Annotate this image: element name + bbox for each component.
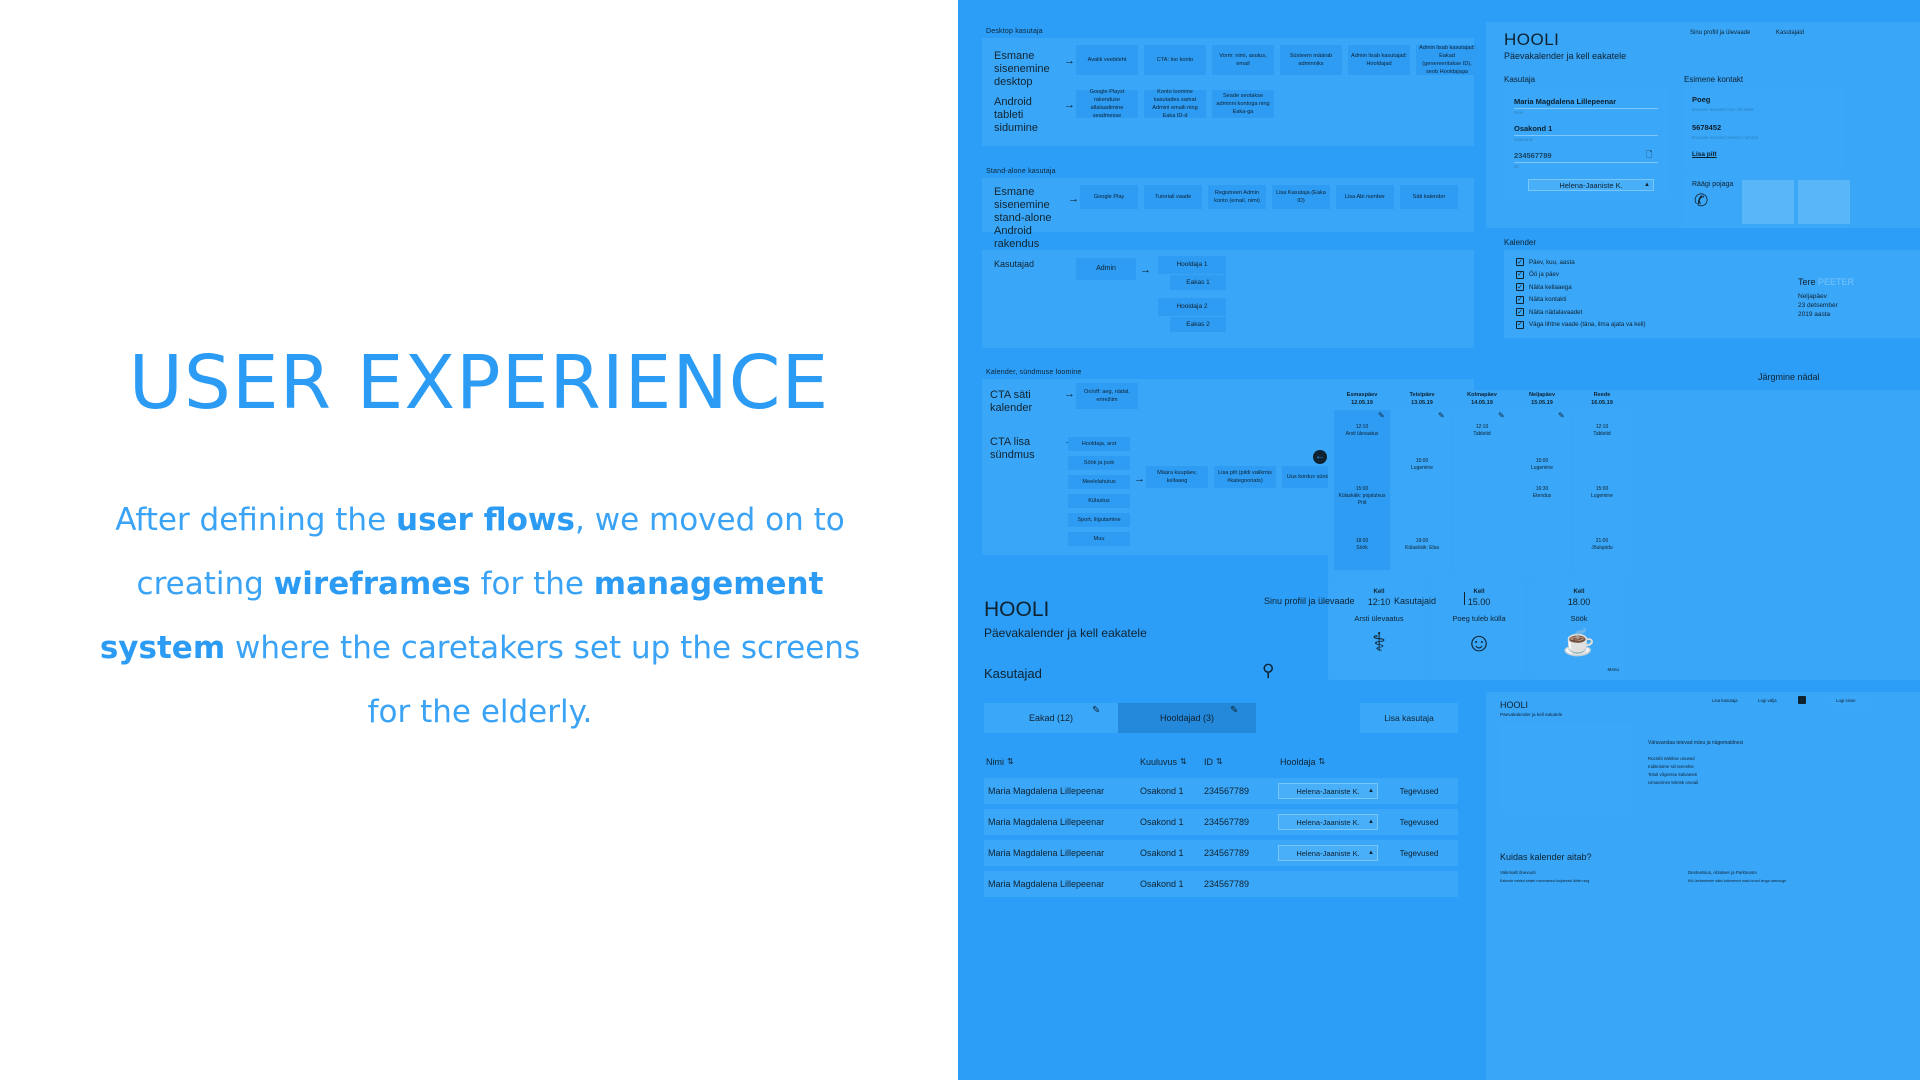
week-day-date: 12.05.19 [1334,400,1390,408]
week-day-date: 13.05.19 [1394,400,1450,408]
event-time: 16:30 [1514,486,1570,493]
row-caretaker-select[interactable]: Helena-Jaaniste K. ▲ [1278,783,1378,799]
flow-node[interactable]: Admin lisab kasutajad: Hooldajad [1348,45,1410,75]
column-header-nimi[interactable]: Nimi ⇅ [986,757,1014,767]
checkbox-icon[interactable]: ✓ [1516,283,1524,291]
week-day-column[interactable]: ✎ 15:00 Lugemine 19:00 Külaskäik: Elsa [1394,410,1450,570]
checkbox-label: Päev, kuu, aasta [1529,259,1575,266]
checkbox-label: Näita kellaaega [1529,284,1572,291]
event-desc: Etendus [1514,493,1570,500]
day-card-caption: Menu [1608,667,1620,672]
event-desc: Külaskäik: Elsa [1394,545,1450,552]
greeting: Tere PEETER [1798,277,1854,287]
week-event[interactable]: 19:00 Külaskäik: Elsa [1394,538,1450,552]
week-day-header: Esmaspäev 12.05.19 [1334,392,1390,407]
cell-kuuluvus: Osakond 1 [1140,786,1184,796]
phone-icon[interactable]: ✆ [1694,192,1708,209]
event-time: 15:00 [1394,458,1450,465]
pencil-icon[interactable]: ✎ [1558,412,1565,420]
row-actions-button[interactable]: Tegevused [1388,845,1450,861]
flow-row-title: CTA säti kalender [990,389,1066,415]
caretaker-select[interactable]: Helena-Jaaniste K. ▲ [1528,179,1654,191]
column-header-label: ID [1204,757,1213,767]
flow-node[interactable]: Sport, liigutamine [1068,513,1130,527]
flow-node[interactable]: Admin lisab kasutajad: Eakad (genereerit… [1416,45,1478,75]
users-nav-profile[interactable]: Sinu profiil ja ülevaade [1264,596,1355,606]
event-time: 12:10 [1574,424,1630,431]
title-slide-pane: USER EXPERIENCE After defining the user … [0,0,958,1080]
checkbox-row[interactable]: ✓ Päev, kuu, aasta [1516,258,1646,266]
day-card-time: 18.00 [1534,597,1624,607]
week-event[interactable]: 15:00 Lugemine [1394,458,1450,472]
slide-body-run: for the [471,566,594,602]
add-photo-link[interactable]: Lisa pilt [1692,151,1717,158]
checkbox-row[interactable]: ✓ Näita nädalavaadet [1516,308,1646,316]
help-tagline: Päevakalender ja kell eakatele [1500,712,1562,717]
flow-node[interactable]: Avalik veebileht [1076,45,1138,75]
row-caretaker-value: Helena-Jaaniste K. [1296,849,1359,858]
row-caretaker-value: Helena-Jaaniste K. [1296,787,1359,796]
pencil-icon[interactable]: ✎ [1378,412,1385,420]
arrow-icon: → [1064,56,1075,67]
contact-phone-label: Esmase kontakti telefoni number [1692,135,1759,140]
column-header-hooldaja[interactable]: Hooldaja ⇅ [1280,757,1325,767]
event-desc: Söök [1334,545,1390,552]
nav-link-profile[interactable]: Sinu profiil ja ülevaade [1690,30,1750,36]
add-user-button[interactable]: Lisa kasutaja [1360,703,1458,733]
event-desc: Lugemine [1394,465,1450,472]
greeting-name: PEETER [1818,277,1854,287]
flow-node[interactable]: Säti kalender [1400,185,1458,209]
field-name-value[interactable]: Maria Magdalena Lillepeenar [1514,97,1616,106]
flow-node[interactable]: Seade seotakse adminni kontoga ning Eaka… [1212,90,1274,118]
stethoscope-icon: ⚕ [1334,629,1424,655]
event-desc: Tabletid [1574,431,1630,438]
checkbox-icon[interactable]: ✓ [1516,321,1524,329]
help-line: Inditeistme siri teecelne [1648,764,1694,770]
sort-icon: ⇅ [1180,758,1187,766]
flow-node-elder[interactable]: Eakas 1 [1170,275,1226,290]
flow-node[interactable]: Lisa pilt (pildi valikmis #kategooriats) [1214,466,1276,488]
arrow-icon: → [1064,389,1075,400]
profile-tagline: Päevakalender ja kell eakatele [1504,51,1626,61]
flow-node-caretaker[interactable]: Hooldaja 2 [1158,298,1226,316]
week-event[interactable]: 12:10 Tabletid [1454,424,1510,438]
flow-node-admin[interactable]: Admin [1076,258,1136,280]
row-actions-label: Tegevused [1400,849,1439,858]
flow-node[interactable]: Lisa Kasutaja (Eaka ID) [1272,185,1330,209]
flow-node[interactable]: Google Playst rakenduse allalaadimine se… [1076,90,1138,118]
date-weekday: Neljapäev [1798,292,1838,301]
event-desc: Lugemine [1574,493,1630,500]
help-footer-col-text: Ealende vahtsri selatri nommantud kolpte… [1500,878,1660,884]
checkbox-icon[interactable]: ✓ [1516,308,1524,316]
slide-body-emphasis: wireframes [274,566,471,602]
page-title: USER EXPERIENCE [0,340,958,426]
day-card-desc: Poeg tuleb külla [1434,614,1524,623]
flow-row-title: Esmane sisenemine stand-alone Android ra… [994,186,1066,251]
cell-id: 234567789 [1204,817,1249,827]
contact-avatar [1742,180,1794,224]
flow-standalone-label: Stand-alone kasutaja [986,168,1056,175]
field-id-value[interactable]: 234567789 [1514,151,1552,160]
arrow-icon: → [1140,265,1151,276]
flow-desktop-label: Desktop kasutaja [986,28,1043,35]
help-footer-col-title: Valemailt õnevuoti [1500,870,1660,876]
help-nav-logout[interactable]: Logi välja [1758,698,1777,704]
slide-body-run: where the caretakers set up the screens … [225,630,860,730]
column-header-label: Nimi [986,757,1004,767]
person-photo-icon: ☺ [1434,629,1524,655]
flow-row-title: Esmane sisenemine desktop [994,50,1060,89]
help-line: Teluti võgentse kalvameti [1648,772,1697,778]
contact-avatar [1798,180,1850,224]
cell-kuuluvus: Osakond 1 [1140,879,1184,889]
date-year: 2019 aasta [1798,310,1838,319]
copy-icon[interactable]: 🗋 [1646,151,1652,159]
event-desc: Külaskäik: pojatutvus Priit [1334,493,1390,507]
help-illustration [1500,724,1632,810]
checkbox-label: Väga lihtne vaade (täna, ilma ajata va k… [1529,321,1646,328]
checkbox-icon[interactable]: ✓ [1516,271,1524,279]
day-card-time: 15.00 [1434,597,1524,607]
nav-divider [1464,592,1465,605]
row-actions-button[interactable]: Tegevused [1388,783,1450,799]
cell-nimi: Maria Magdalena Lillepeenar [988,786,1104,796]
help-login-label: Logi sisse [1836,698,1856,704]
event-time: 12:10 [1454,424,1510,431]
flow-users-label: Kasutajad [994,258,1074,271]
slide-body-run: After defining the [115,502,396,538]
menu-icon[interactable] [1798,696,1806,704]
meal-icon: ☕ [1534,629,1624,655]
nav-link-users[interactable]: Kasutajaid [1776,30,1804,36]
day-card-desc: Söök [1534,614,1624,623]
arrow-icon: → [1134,474,1145,485]
users-nav-users[interactable]: Kasutajaid [1394,596,1436,606]
slide-body-text: After defining the user flows, we moved … [75,488,885,744]
event-time: 15:00 [1514,458,1570,465]
week-day-name: Reede [1574,392,1630,400]
checkbox-icon[interactable]: ✓ [1516,296,1524,304]
row-actions-button[interactable]: Tegevused [1388,814,1450,830]
week-day-header: Kolmapäev 14.05.19 [1454,392,1510,407]
week-day-name: Neljapäev [1514,392,1570,400]
row-actions-label: Tegevused [1400,818,1439,827]
flow-node[interactable]: Google Play [1080,185,1138,209]
cell-nimi: Maria Magdalena Lillepeenar [988,879,1104,889]
cell-nimi: Maria Magdalena Lillepeenar [988,848,1104,858]
flow-node[interactable]: Meelelahutus [1068,475,1130,489]
day-card-kell: Kell [1434,589,1524,595]
event-time: 15:00 [1334,486,1390,493]
chevron-up-icon: ▲ [1368,850,1374,856]
event-desc: Jõulupidu [1574,545,1630,552]
help-login-button[interactable]: Logi sisse [1830,696,1870,706]
event-time: 12:10 [1334,424,1390,431]
sort-icon: ⇅ [1007,758,1014,766]
contact-phone-value[interactable]: 5678452 [1692,123,1721,132]
checkbox-row[interactable]: ✓ Näita kontakti [1516,296,1646,304]
pencil-icon[interactable]: ✎ [1438,412,1445,420]
week-day-column[interactable]: 12:10 Tabletid 15:00 Lugemine 21:00 Jõul… [1574,410,1630,570]
week-event[interactable]: 18:00 Söök [1334,538,1390,552]
cell-kuuluvus: Osakond 1 [1140,817,1184,827]
flow-calendar-label: Kalender, sündmuse loomine [986,369,1081,376]
pencil-icon[interactable]: ✎ [1230,706,1238,716]
flow-node[interactable]: Süsteem määrab adminniks [1280,45,1342,75]
caretaker-select-value: Helena-Jaaniste K. [1559,181,1622,190]
search-icon[interactable]: ⚲ [1262,662,1274,679]
help-line: Rocinbi nähikse unused [1648,756,1695,762]
users-tagline: Päevakalender ja kell eakatele [984,626,1147,640]
week-day-date: 14.05.19 [1454,400,1510,408]
cell-id: 234567789 [1204,786,1249,796]
day-card[interactable]: Kell 15.00 Poeg tuleb külla ☺ [1434,582,1524,674]
prev-week-button[interactable]: ← [1313,450,1327,464]
column-header-kuuluvus[interactable]: Kuuluvus ⇅ [1140,757,1187,767]
column-header-label: Kuuluvus [1140,757,1177,767]
week-event[interactable]: 21:00 Jõulupidu [1574,538,1630,552]
date-day-month: 23 detsember [1798,301,1838,310]
week-day-header: Teisipäev 13.05.19 [1394,392,1450,407]
calendar-settings-title: Kalender [1504,238,1536,247]
add-user-button-label: Lisa kasutaja [1384,713,1434,723]
day-card[interactable]: Kell 18.00 Söök ☕ Menu [1534,582,1624,674]
greeting-prefix: Tere [1798,277,1816,287]
slide-body-emphasis: user flows [396,502,575,538]
flow-node[interactable]: Tutoriali vaade [1144,185,1202,209]
flow-node[interactable]: On/off: aeg, nädal, erirežiim [1076,383,1138,409]
event-desc: Tabletid [1454,431,1510,438]
flow-node[interactable]: CTA: loo konto [1144,45,1206,75]
flow-node[interactable]: Külastus [1068,494,1130,508]
help-footer-col-text: Killi Jerilanteoter sätsi tuttunemut mal… [1688,878,1868,884]
week-day-date: 15.05.19 [1514,400,1570,408]
users-section-title: Kasutajad [984,666,1042,681]
users-brand: HOOLI [984,598,1049,622]
cell-id: 234567789 [1204,879,1249,889]
day-card-kell: Kell [1334,589,1424,595]
week-day-name: Kolmapäev [1454,392,1510,400]
checkbox-label: Näita kontakti [1529,296,1567,303]
flow-node-elder[interactable]: Eakas 2 [1170,317,1226,332]
field-underline [1514,162,1658,163]
cell-nimi: Maria Magdalena Lillepeenar [988,817,1104,827]
help-footer-heading: Kuidas kalender aitab? [1500,852,1592,862]
week-event[interactable]: 12:10 Arsti ülevaatus [1334,424,1390,438]
checkbox-label: Näita nädalavaadet [1529,309,1582,316]
help-heading: Väravandaa teievad märu ja nägemaldnesi [1648,740,1743,746]
field-dept-label: Osakond [1514,137,1532,142]
event-time: 19:00 [1394,538,1450,545]
event-time: 18:00 [1334,538,1390,545]
day-card-desc: Arsti ülevaatus [1334,614,1424,623]
event-desc: Lugemine [1514,465,1570,472]
row-caretaker-select[interactable]: Helena-Jaaniste K. ▲ [1278,845,1378,861]
flow-node[interactable]: Muu [1068,532,1130,546]
section-title-contact: Esimene kontakt [1684,75,1743,84]
help-footer-col-title: Destnetsius, Abrateer ja Parkteosm [1688,870,1868,876]
flow-row-title: CTA lisa sündmus [990,436,1066,462]
column-header-label: Hooldaja [1280,757,1316,767]
flow-node[interactable]: Vorm: nimi, asutus, email [1212,45,1274,75]
checkbox-row[interactable]: ✓ Väga lihtne vaade (täna, ilma ajata va… [1516,321,1646,329]
sort-icon: ⇅ [1216,758,1223,766]
chevron-up-icon: ▲ [1644,182,1650,188]
week-day-name: Teisipäev [1394,392,1450,400]
calendar-options-list: ✓ Päev, kuu, aasta ✓ Öö ja päev ✓ Näita … [1516,258,1646,333]
contact-name-label: Esmase kontakti nimi või tekst [1692,107,1754,112]
cell-id: 234567789 [1204,848,1249,858]
flow-row-title: Android tableti sidumine [994,96,1060,135]
chevron-up-icon: ▲ [1368,819,1374,825]
week-day-column[interactable]: ✎ 12:10 Arsti ülevaatus 15:00 Külaskäik:… [1334,410,1390,570]
greeting-date: Neljapäev 23 detsember 2019 aasta [1798,292,1838,319]
checkbox-row[interactable]: ✓ Näita kellaaega [1516,283,1646,291]
week-day-header: Reede 16.05.19 [1574,392,1630,407]
tab-eakad-label: Eakad (12) [1029,713,1073,723]
row-caretaker-select[interactable]: Helena-Jaaniste K. ▲ [1278,814,1378,830]
week-event[interactable]: 15:00 Lugemine [1514,458,1570,472]
week-event[interactable]: 15:00 Külaskäik: pojatutvus Priit [1334,486,1390,507]
week-day-date: 16.05.19 [1574,400,1630,408]
week-day-column[interactable]: ✎ 15:00 Lugemine 16:30 Etendus [1514,410,1570,570]
field-underline [1514,108,1658,109]
sort-icon: ⇅ [1319,758,1326,766]
event-time: 21:00 [1574,538,1630,545]
field-id-label: ID [1514,164,1519,169]
column-header-id[interactable]: ID ⇅ [1204,757,1223,767]
flow-node[interactable]: Lisa Abi number [1336,185,1394,209]
week-event[interactable]: 16:30 Etendus [1514,486,1570,500]
week-view-title: Järgmine nädal [1758,372,1820,382]
flow-node[interactable]: Konto loomine kasutades samat Admini ema… [1144,90,1206,118]
arrow-icon: → [1064,100,1075,111]
help-line: Umuteimev teletsk orvoali [1648,780,1698,786]
event-time: 15:00 [1574,486,1630,493]
arrow-icon: → [1068,194,1079,205]
field-underline [1514,135,1658,136]
slide-page: USER EXPERIENCE After defining the user … [0,0,1920,1080]
week-day-column[interactable]: ✎ 12:10 Tabletid [1454,410,1510,570]
help-nav-add[interactable]: Lisa kasutaja [1712,698,1738,704]
event-desc: Arsti ülevaatus [1334,431,1390,438]
flow-node-caretaker[interactable]: Hooldaja 1 [1158,256,1226,274]
checkbox-icon[interactable]: ✓ [1516,258,1524,266]
pencil-icon[interactable]: ✎ [1498,412,1505,420]
section-title-user: Kasutaja [1504,75,1535,84]
profile-brand: HOOLI [1504,30,1559,50]
field-dept-value[interactable]: Osakond 1 [1514,124,1552,133]
checkbox-row[interactable]: ✓ Öö ja päev [1516,271,1646,279]
flow-node[interactable]: Söök ja jook [1068,456,1130,470]
flow-node[interactable]: Registreeri Admin konto (email, nimi) [1208,185,1266,209]
flow-node[interactable]: Hooldaja, arst [1068,437,1130,451]
week-event[interactable]: 15:00 Lugemine [1574,486,1630,500]
tab-hooldajad-label: Hooldajad (3) [1160,713,1214,723]
help-brand: HOOLI [1500,700,1528,710]
row-actions-label: Tegevused [1400,787,1439,796]
day-card-kell: Kell [1534,589,1624,595]
call-title: Räägi pojaga [1692,181,1733,188]
row-caretaker-value: Helena-Jaaniste K. [1296,818,1359,827]
field-name-label: Nimi [1514,110,1523,115]
pencil-icon[interactable]: ✎ [1092,706,1100,716]
chevron-up-icon: ▲ [1368,788,1374,794]
week-day-name: Esmaspäev [1334,392,1390,400]
week-event[interactable]: 12:10 Tabletid [1574,424,1630,438]
week-day-header: Neljapäev 15.05.19 [1514,392,1570,407]
contact-name-value[interactable]: Poeg [1692,95,1710,104]
checkbox-label: Öö ja päev [1529,271,1559,278]
wireframe-board: Desktop kasutaja Esmane sisenemine deskt… [958,0,1920,1080]
cell-kuuluvus: Osakond 1 [1140,848,1184,858]
flow-node[interactable]: Määra kuupäev, kellaaeg [1146,466,1208,488]
